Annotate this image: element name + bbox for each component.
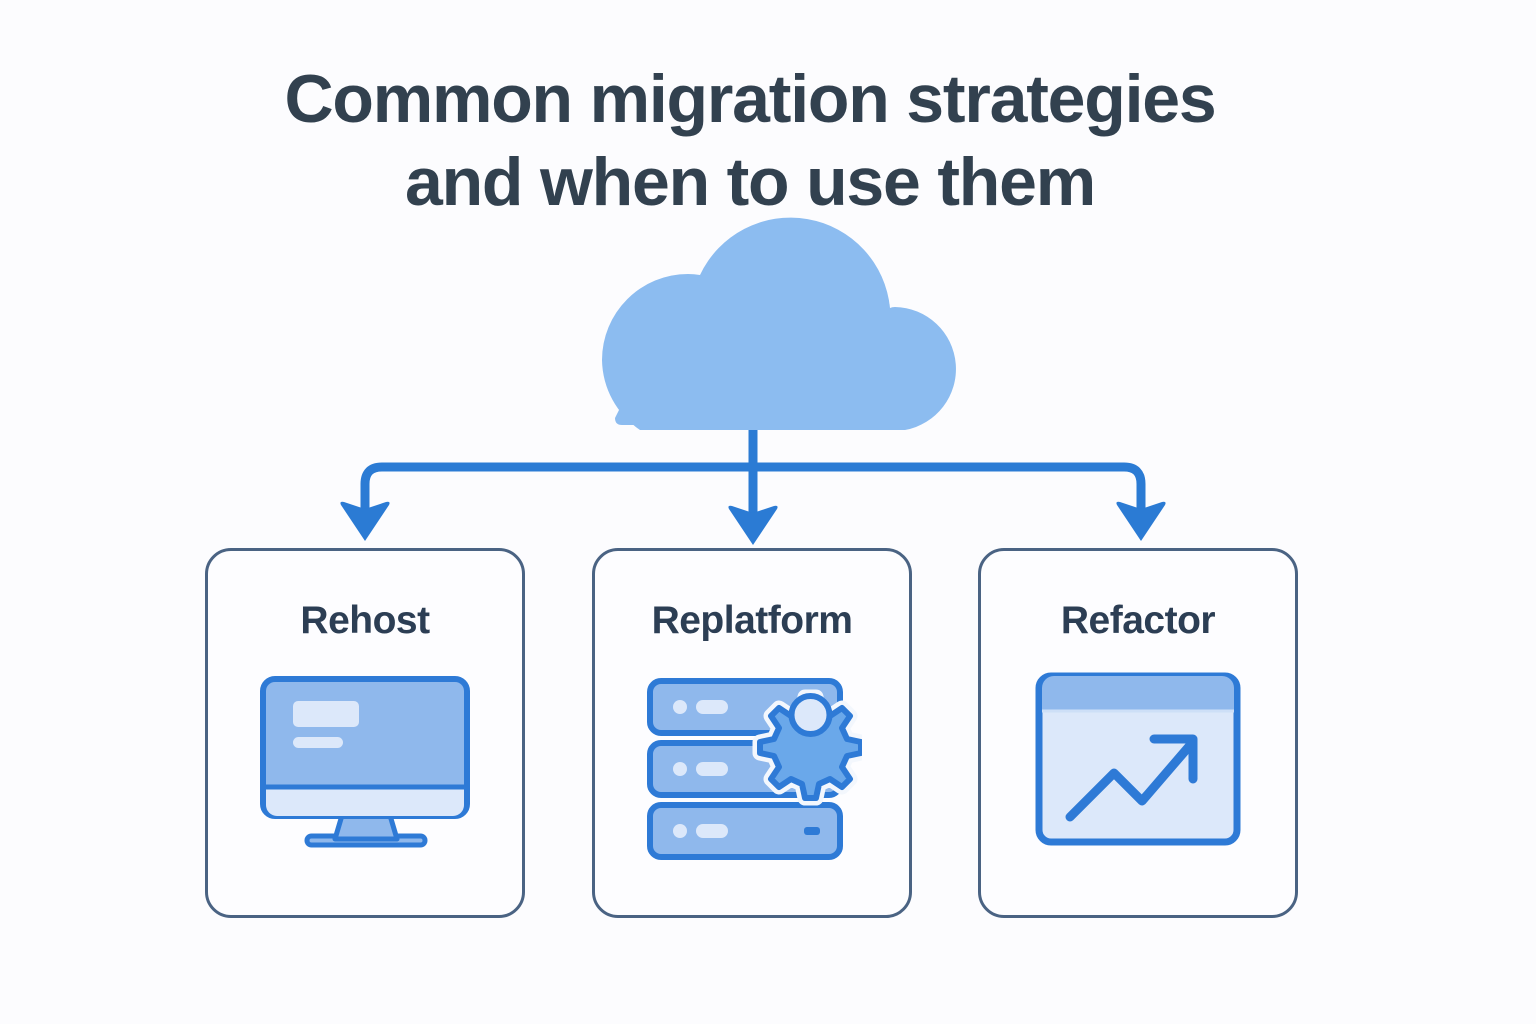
card-label-rehost: Rehost [208, 599, 522, 643]
browser-window-trending-up-icon [1032, 669, 1244, 849]
arrowhead-right-icon [1116, 502, 1165, 541]
strategy-card-replatform[interactable]: Replatform [592, 548, 912, 918]
desktop-monitor-icon [255, 669, 475, 859]
connector-lines [365, 418, 1141, 520]
connector-arrowheads [340, 502, 1165, 545]
gear-icon [760, 696, 861, 798]
card-label-refactor: Refactor [981, 599, 1295, 643]
card-icon-refactor [981, 669, 1295, 849]
strategy-card-rehost[interactable]: Rehost [205, 548, 525, 918]
cloud-icon [602, 218, 956, 430]
server-rack-bottom [650, 805, 840, 857]
card-label-replatform: Replatform [595, 599, 909, 643]
page-title-line-1: Common migration strategies [0, 58, 1500, 141]
server-stack-gear-icon [642, 669, 862, 864]
card-icon-rehost [208, 669, 522, 859]
arrowhead-left-icon [340, 502, 389, 541]
page-title-line-2: and when to use them [0, 141, 1500, 224]
card-icon-replatform [595, 669, 909, 864]
page-title: Common migration strategies and when to … [0, 58, 1500, 224]
arrowhead-center-icon [728, 506, 777, 545]
strategy-card-refactor[interactable]: Refactor [978, 548, 1298, 918]
diagram-canvas: Common migration strategies and when to … [0, 0, 1536, 1024]
